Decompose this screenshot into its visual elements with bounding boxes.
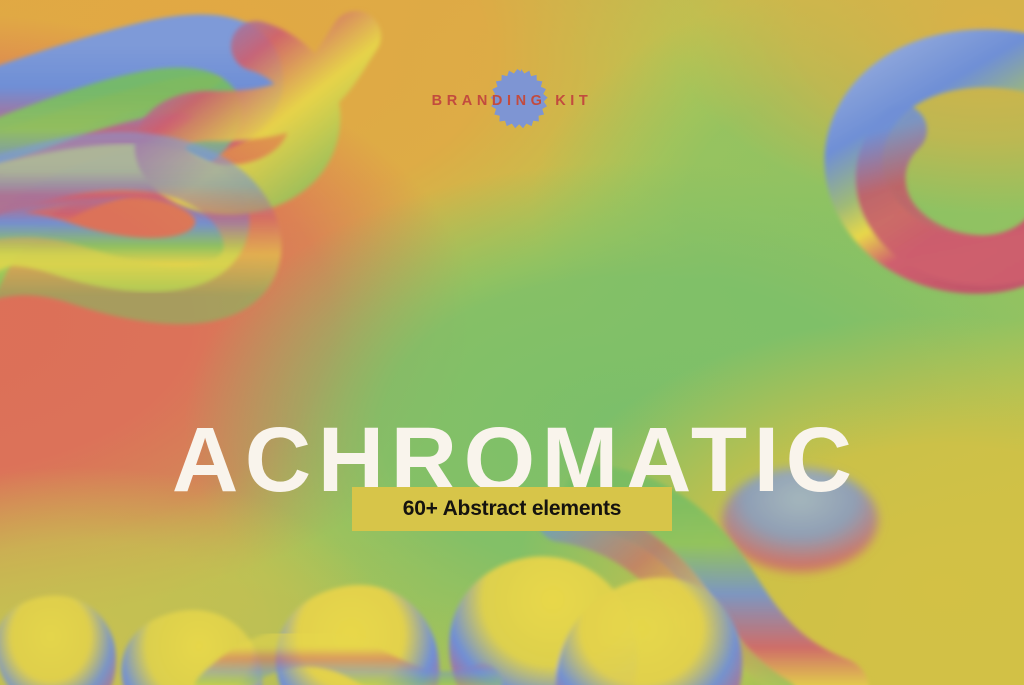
elements-count-badge: 60+ Abstract elements: [352, 487, 672, 531]
ring-top-right: [853, 58, 1024, 264]
poster-canvas: BRANDING KIT ACHROMATIC 60+ Abstract ele…: [0, 0, 1024, 685]
badge-label: 60+ Abstract elements: [403, 497, 622, 521]
starburst-icon: [490, 68, 552, 132]
